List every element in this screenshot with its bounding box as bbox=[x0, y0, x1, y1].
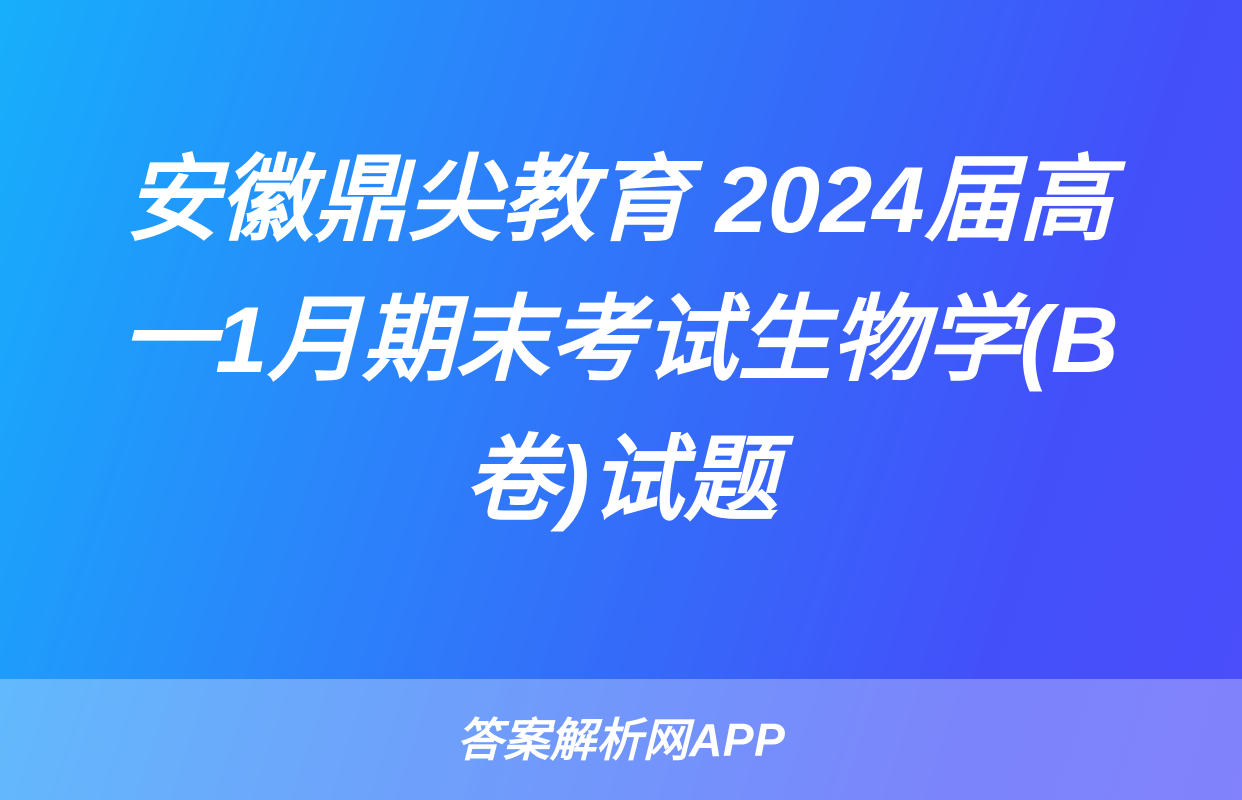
title-block: 安徽鼎尖教育 2024届高 一1月期末考试生物学(B 卷)试题 bbox=[0, 0, 1242, 679]
title-line-1: 安徽鼎尖教育 2024届高 bbox=[125, 130, 1112, 270]
share-card: 安徽鼎尖教育 2024届高 一1月期末考试生物学(B 卷)试题 答案解析网APP bbox=[0, 0, 1242, 800]
app-watermark-label: 答案解析网APP bbox=[457, 714, 786, 766]
title-line-2: 一1月期末考试生物学(B bbox=[121, 270, 1118, 410]
footer-watermark-band: 答案解析网APP bbox=[0, 679, 1242, 800]
title-line-3: 卷)试题 bbox=[464, 410, 777, 550]
